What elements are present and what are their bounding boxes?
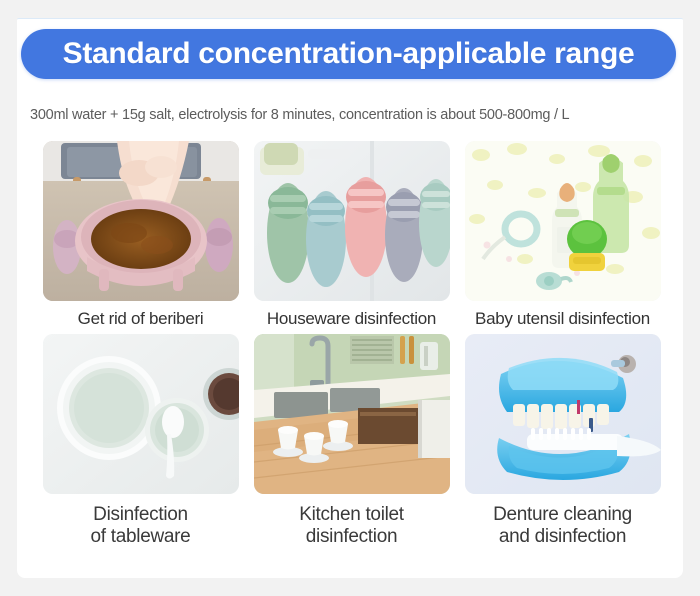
baby-bottles-photo <box>465 141 661 301</box>
cell-caption: Get rid of beriberi <box>78 309 204 328</box>
usage-grid: Get rid of beriberi <box>39 141 665 548</box>
page-root: Standard concentration-applicable range … <box>0 0 700 596</box>
grid-cell-houseware[interactable]: Houseware disinfection <box>250 141 453 328</box>
caption-line-1: Denture cleaning <box>493 504 632 526</box>
grid-cell-foot-bath[interactable]: Get rid of beriberi <box>39 141 242 328</box>
denture-model-toothbrush-photo <box>465 334 661 494</box>
caption-line-2: disinfection <box>299 526 404 548</box>
cell-caption: Denture cleaning and disinfection <box>493 504 632 548</box>
cell-caption: Houseware disinfection <box>267 309 436 328</box>
section-banner: Standard concentration-applicable range <box>21 29 676 79</box>
cell-caption: Disinfection of tableware <box>91 504 191 548</box>
grid-cell-baby-utensil[interactable]: Baby utensil disinfection <box>461 141 664 328</box>
caption-line-1: Disinfection <box>91 504 191 526</box>
caption-line-1: Kitchen toilet <box>299 504 404 526</box>
cell-caption: Baby utensil disinfection <box>475 309 650 328</box>
tableware-plate-bowl-spoon-photo <box>43 334 239 494</box>
slippers-photo <box>254 141 450 301</box>
caption-line-2: and disinfection <box>493 526 632 548</box>
cell-caption: Kitchen toilet disinfection <box>299 504 404 548</box>
grid-row-2: Disinfection of tableware <box>39 334 665 548</box>
banner-title: Standard concentration-applicable range <box>63 37 635 71</box>
content-card: Standard concentration-applicable range … <box>17 18 683 578</box>
kitchen-sink-counter-photo <box>254 334 450 494</box>
grid-cell-tableware[interactable]: Disinfection of tableware <box>39 334 242 548</box>
grid-cell-kitchen-toilet[interactable]: Kitchen toilet disinfection <box>250 334 453 548</box>
foot-bath-basin-photo <box>43 141 239 301</box>
caption-line-2: of tableware <box>91 526 191 548</box>
grid-cell-denture[interactable]: Denture cleaning and disinfection <box>461 334 664 548</box>
subtitle-text: 300ml water + 15g salt, electrolysis for… <box>30 107 680 123</box>
grid-row-1: Get rid of beriberi <box>39 141 665 328</box>
